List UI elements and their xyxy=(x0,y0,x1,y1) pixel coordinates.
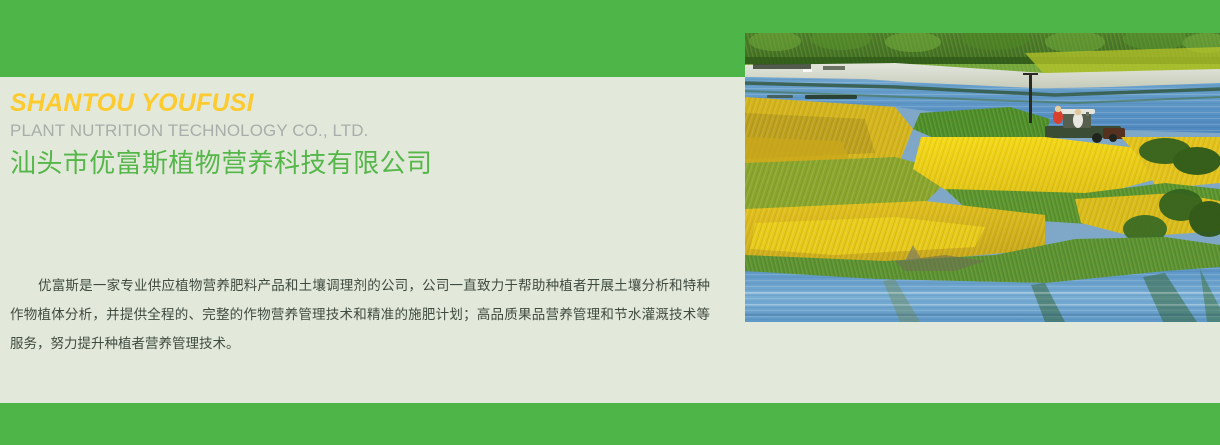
hero-photo xyxy=(745,33,1220,322)
company-intro-paragraph: 优富斯是一家专业供应植物营养肥料产品和土壤调理剂的公司，公司一直致力于帮助种植者… xyxy=(10,272,710,359)
company-name-chinese: 汕头市优富斯植物营养科技有限公司 xyxy=(10,148,710,181)
brand-block: SHANTOU YOUFUSI PLANT NUTRITION TECHNOLO… xyxy=(10,90,710,181)
footer-green-band xyxy=(0,403,1220,445)
rice-paddy-photo-illustration xyxy=(745,33,1220,322)
company-subtitle-english: PLANT NUTRITION TECHNOLOGY CO., LTD. xyxy=(10,120,710,141)
company-name-english: SHANTOU YOUFUSI xyxy=(10,90,710,117)
page-root: SHANTOU YOUFUSI PLANT NUTRITION TECHNOLO… xyxy=(0,0,1220,445)
